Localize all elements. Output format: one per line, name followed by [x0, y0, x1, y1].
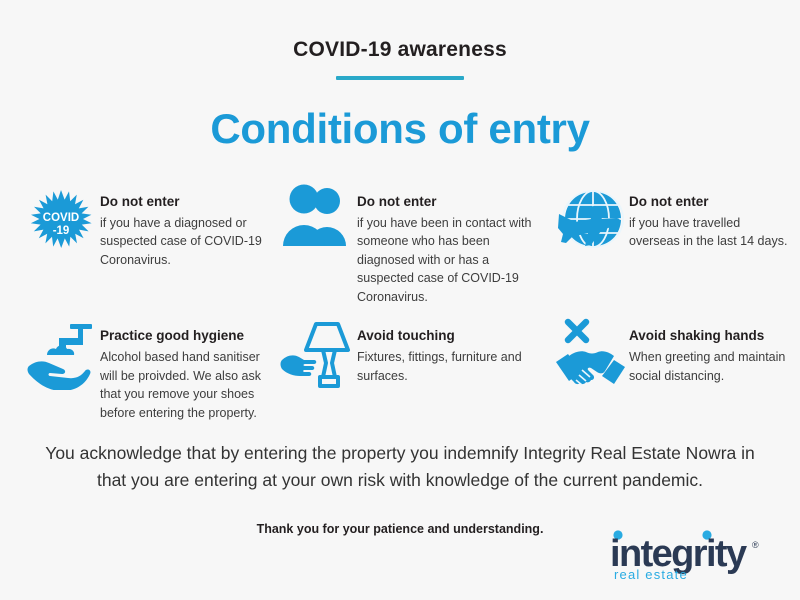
condition-text: Do not enter if you have a diagnosed or …: [100, 182, 273, 269]
condition-item-do-not-enter-travel: Do not enter if you have travelled overs…: [545, 182, 800, 306]
condition-item-do-not-enter-contact: Do not enter if you have been in contact…: [273, 182, 545, 306]
hand-washing-icon: [22, 316, 100, 396]
logo-trademark: ®: [752, 540, 759, 550]
header-divider: [336, 76, 464, 80]
condition-item-avoid-touching: Avoid touching Fixtures, fittings, furni…: [273, 316, 545, 422]
covid-virus-icon: COVID -19: [22, 182, 100, 262]
poster-canvas: COVID-19 awareness Conditions of entry C…: [0, 0, 800, 600]
x-mark-icon: [568, 322, 586, 340]
condition-text: Practice good hygiene Alcohol based hand…: [100, 316, 273, 422]
covid-icon-label-top: COVID: [43, 212, 79, 224]
covid-icon-label-bottom: -19: [53, 225, 70, 237]
eyebrow-title: COVID-19 awareness: [0, 38, 800, 61]
poster-footer: You acknowledge that by entering the pro…: [0, 440, 800, 536]
condition-body: if you have travelled overseas in the la…: [629, 214, 794, 251]
condition-body: Alcohol based hand sanitiser will be pro…: [100, 348, 273, 422]
poster-header: COVID-19 awareness Conditions of entry: [0, 0, 800, 152]
condition-body: Fixtures, fittings, furniture and surfac…: [357, 348, 535, 385]
two-people-icon: [279, 182, 357, 262]
condition-text: Do not enter if you have been in contact…: [357, 182, 535, 306]
condition-text: Avoid touching Fixtures, fittings, furni…: [357, 316, 535, 385]
condition-title: Do not enter: [357, 194, 535, 211]
condition-item-do-not-enter-diagnosed: COVID -19 Do not enter if you have a dia…: [0, 182, 273, 306]
condition-title: Avoid touching: [357, 328, 535, 345]
integrity-real-estate-logo: integrity ® real estate: [610, 526, 770, 582]
page-title: Conditions of entry: [0, 106, 800, 152]
condition-title: Practice good hygiene: [100, 328, 273, 345]
condition-text: Avoid shaking hands When greeting and ma…: [629, 316, 794, 385]
conditions-grid: COVID -19 Do not enter if you have a dia…: [0, 182, 800, 422]
no-handshake-icon: [551, 316, 629, 396]
condition-title: Avoid shaking hands: [629, 328, 794, 345]
conditions-row-2: Practice good hygiene Alcohol based hand…: [0, 316, 800, 422]
logo-tagline: real estate: [614, 567, 688, 582]
condition-title: Do not enter: [100, 194, 273, 211]
condition-title: Do not enter: [629, 194, 794, 211]
condition-body: if you have a diagnosed or suspected cas…: [100, 214, 273, 270]
condition-body: When greeting and maintain social distan…: [629, 348, 794, 385]
condition-text: Do not enter if you have travelled overs…: [629, 182, 794, 251]
lamp-pointing-hand-icon: [279, 316, 357, 396]
condition-item-good-hygiene: Practice good hygiene Alcohol based hand…: [0, 316, 273, 422]
condition-item-avoid-handshake: Avoid shaking hands When greeting and ma…: [545, 316, 800, 422]
conditions-row-1: COVID -19 Do not enter if you have a dia…: [0, 182, 800, 306]
condition-body: if you have been in contact with someone…: [357, 214, 535, 307]
globe-airplane-icon: [551, 182, 629, 262]
acknowledgement-text: You acknowledge that by entering the pro…: [0, 440, 800, 494]
